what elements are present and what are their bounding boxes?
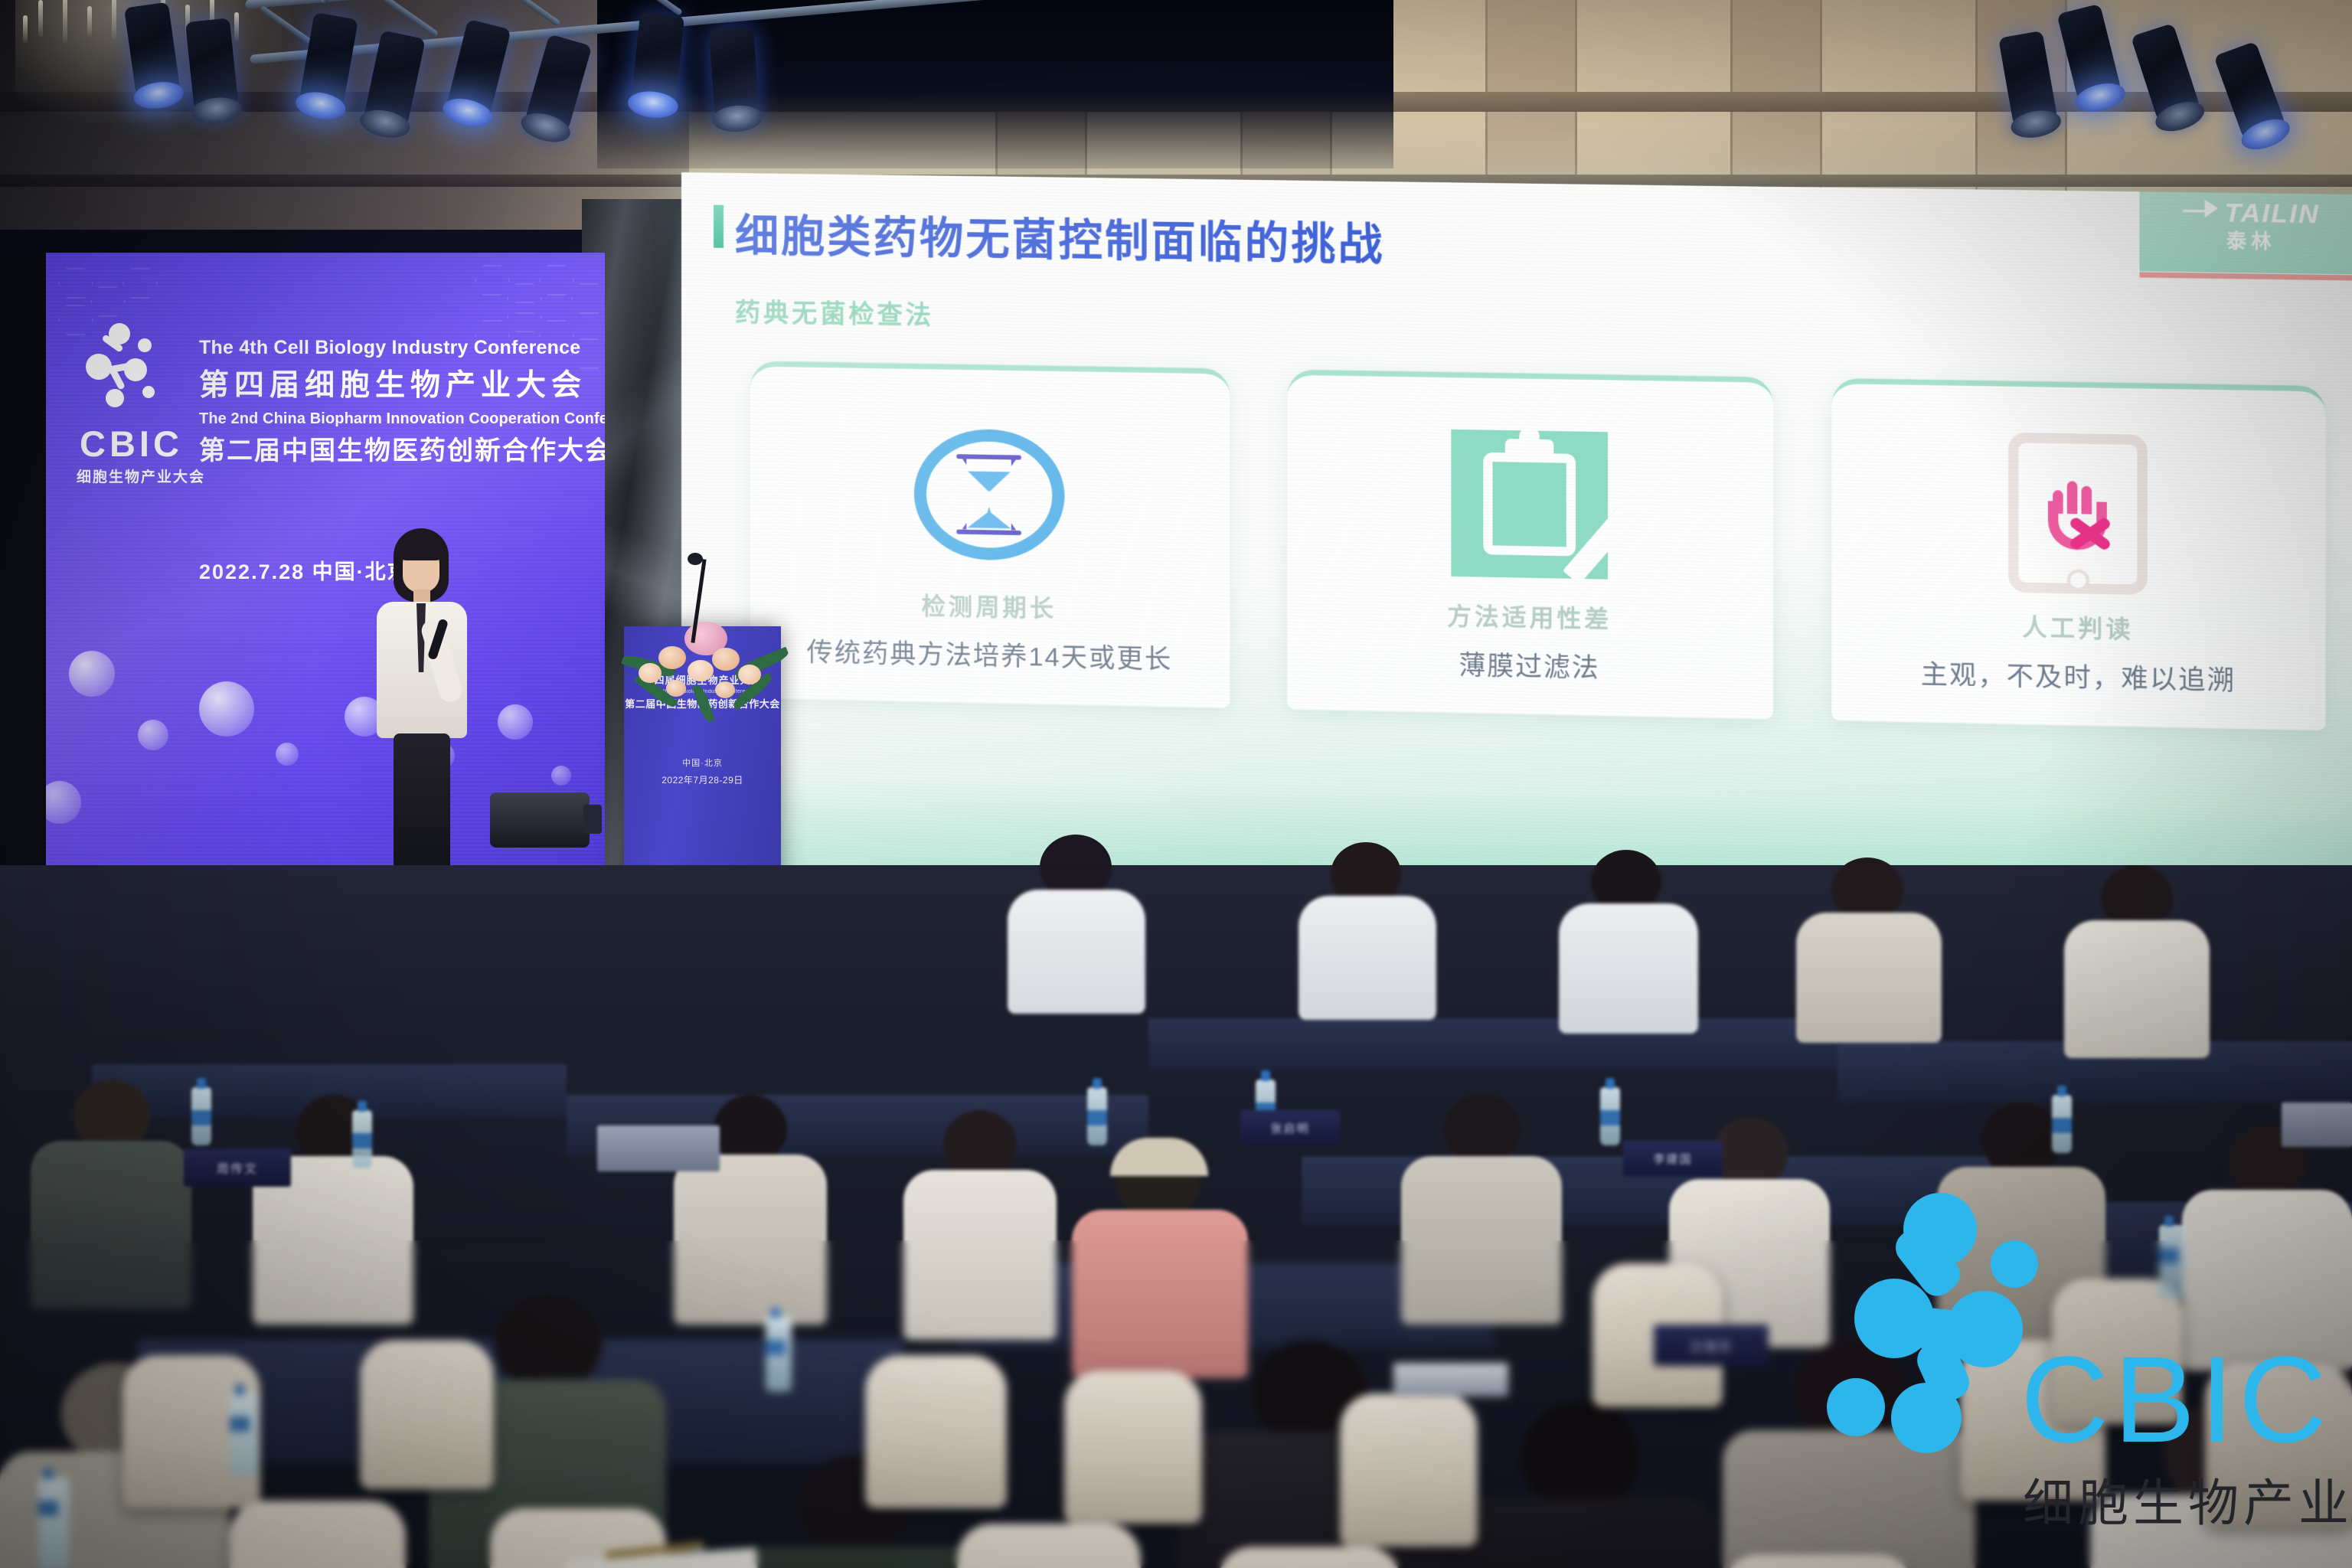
chair <box>230 1501 406 1568</box>
nameplate: 李建国 <box>1623 1141 1723 1176</box>
slide-card: 检测周期长 传统药典方法培养14天或更长 <box>750 361 1230 707</box>
slide-subtitle: 药典无菌检查法 <box>735 292 934 332</box>
audience-person <box>31 1080 191 1309</box>
audience-person <box>2060 865 2213 1057</box>
card-detail: 薄膜过滤法 <box>1459 644 1600 684</box>
laptop <box>2282 1102 2352 1147</box>
card-heading: 方法适用性差 <box>1447 596 1612 635</box>
audience-person <box>903 1110 1057 1340</box>
hand-reject-tablet-icon <box>2008 429 2148 599</box>
audience-person <box>1792 857 1945 1041</box>
clipboard-pen-icon <box>1451 420 1608 589</box>
backdrop-cbic-cn: 细胞生物产业大会 <box>77 465 205 486</box>
audience-person <box>1439 1401 1715 1568</box>
podium-location: 中国·北京 <box>624 756 781 769</box>
backdrop-line-en-1: The 4th Cell Biology Industry Conference <box>199 337 582 359</box>
watermark-brand-cn: 细胞生物产业大会 <box>2023 1462 2352 1536</box>
chair <box>1723 1554 1914 1568</box>
slide-card: 人工判读 主观，不及时，难以追溯 <box>1832 378 2326 730</box>
slide-accent-bar <box>714 205 724 248</box>
card-detail: 主观，不及时，难以追溯 <box>1921 653 2236 697</box>
video-camera <box>490 792 590 848</box>
sponsor-logo-cn: 泰林 <box>2226 225 2276 254</box>
chair <box>1217 1547 1401 1568</box>
water-bottle <box>38 1478 69 1566</box>
laptop <box>1393 1363 1508 1396</box>
stage-light <box>185 18 239 113</box>
chair <box>957 1524 1141 1568</box>
water-bottle <box>1087 1087 1107 1145</box>
chair <box>1340 1393 1478 1547</box>
water-bottle <box>230 1393 259 1476</box>
podium-date: 2022年7月28-29日 <box>624 773 781 786</box>
audience-person <box>1003 835 1148 1011</box>
card-heading: 检测周期长 <box>922 586 1057 624</box>
slide-card: 方法适用性差 薄膜过滤法 <box>1287 370 1773 720</box>
projected-slide: 细胞类药物无菌控制面临的挑战 药典无菌检查法 TAILIN 泰林 <box>681 172 2352 936</box>
conference-table <box>1148 1018 1837 1072</box>
card-detail: 传统药典方法培养14天或更长 <box>807 631 1173 676</box>
backdrop-line-cn-2: 第二届中国生物医药创新合作大会 <box>199 430 582 467</box>
water-bottle <box>1600 1087 1620 1145</box>
conference-photo-scene: CBIC 细胞生物产业大会 The 4th Cell Biology Indus… <box>0 0 2352 1568</box>
card-heading: 人工判读 <box>2022 607 2133 645</box>
backdrop-title-block: The 4th Cell Biology Industry Conference… <box>199 337 582 467</box>
water-bottle <box>191 1087 211 1145</box>
water-bottle <box>2052 1095 2072 1153</box>
backdrop-line-en-2: The 2nd China Biopharm Innovation Cooper… <box>199 410 582 428</box>
laptop <box>597 1125 720 1171</box>
watermark-brand: CBIC <box>2020 1338 2331 1461</box>
chair <box>865 1355 1007 1508</box>
speaker-person <box>360 528 482 903</box>
slide-title: 细胞类药物无菌控制面临的挑战 <box>735 201 1385 273</box>
audience-person <box>1294 842 1439 1018</box>
podium-microphone-icon <box>688 553 703 565</box>
swoosh-icon <box>2183 199 2218 226</box>
baseball-cap-icon <box>1110 1138 1208 1176</box>
water-bottle <box>352 1110 372 1168</box>
audience-person <box>1401 1095 1562 1325</box>
backdrop-cbic-text: CBIC <box>80 423 183 465</box>
chair <box>1064 1370 1202 1524</box>
backdrop-cbic-mark-icon <box>83 322 182 433</box>
nameplate: 周传文 <box>184 1148 291 1187</box>
podium-flower-arrangement <box>619 612 787 727</box>
slide-card-row: 检测周期长 传统药典方法培养14天或更长 方法适用性差 薄膜过滤法 <box>750 361 2326 730</box>
audience-person <box>1554 850 1700 1034</box>
stage-light <box>709 26 759 121</box>
cbic-watermark: CBIC 细胞生物产业大会 <box>1841 1193 2315 1553</box>
nameplate: 王晓东 <box>1654 1325 1769 1366</box>
chair <box>360 1340 494 1489</box>
nameplate: 张启明 <box>1240 1110 1340 1145</box>
backdrop-line-cn-1: 第四届细胞生物产业大会 <box>199 361 582 404</box>
water-bottle <box>766 1317 792 1392</box>
audience-person <box>253 1095 413 1325</box>
hourglass-icon <box>914 410 1065 578</box>
